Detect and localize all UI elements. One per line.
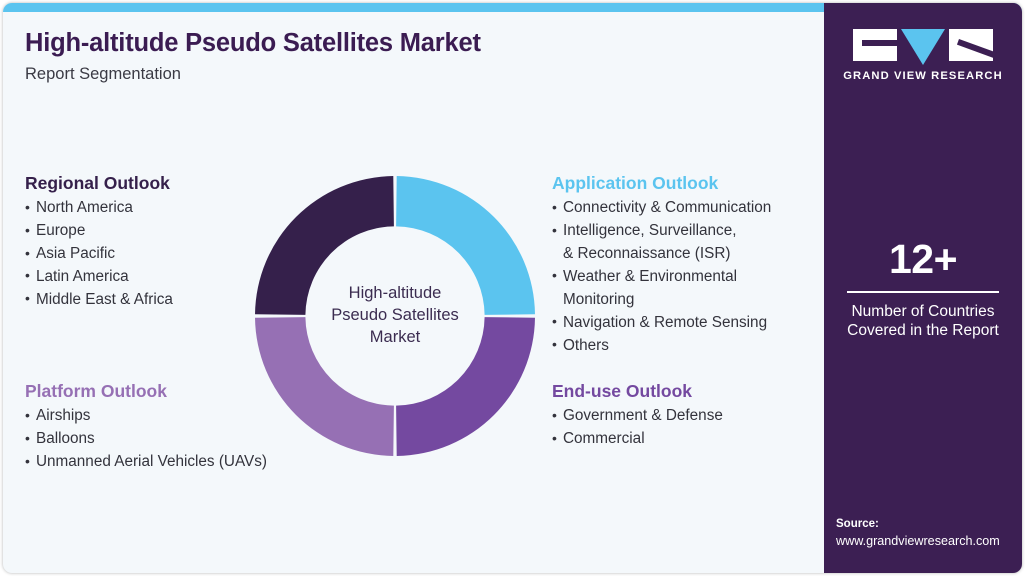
segment-regional-outlook: Regional Outlook North America Europe As…	[25, 173, 275, 312]
header: High-altitude Pseudo Satellites Market R…	[25, 29, 785, 84]
gvr-logo-v-triangle-icon	[901, 29, 945, 65]
brand-logo: GRAND VIEW RESEARCH	[824, 29, 1022, 82]
list-item-continuation: Monitoring	[552, 289, 832, 312]
donut-slice	[396, 317, 535, 456]
segment-enduse-title: End-use Outlook	[552, 381, 832, 401]
list-item: Weather & Environmental	[552, 266, 832, 289]
stat-divider	[847, 291, 999, 293]
segment-application-list: Connectivity & Communication Intelligenc…	[552, 197, 832, 358]
list-item: Navigation & Remote Sensing	[552, 312, 832, 335]
segment-enduse-outlook: End-use Outlook Government & Defense Com…	[552, 381, 832, 451]
segment-application-title: Application Outlook	[552, 173, 832, 193]
stat-countries: 12+ Number of Countries Covered in the R…	[824, 239, 1022, 340]
report-card: High-altitude Pseudo Satellites Market R…	[3, 3, 1022, 573]
list-item: Europe	[25, 220, 275, 243]
segment-enduse-list: Government & Defense Commercial	[552, 405, 832, 451]
donut-slice	[396, 176, 535, 315]
logo-wordmark: GRAND VIEW RESEARCH	[824, 70, 1022, 82]
donut-slice	[255, 176, 394, 315]
donut-chart: High-altitude Pseudo Satellites Market	[255, 176, 535, 456]
page-subtitle: Report Segmentation	[25, 65, 785, 84]
segment-regional-list: North America Europe Asia Pacific Latin …	[25, 197, 275, 312]
logo-marks	[824, 29, 1022, 63]
list-item-continuation: & Reconnaissance (ISR)	[552, 243, 832, 266]
source-url[interactable]: www.grandviewresearch.com	[836, 533, 1022, 550]
list-item: Asia Pacific	[25, 243, 275, 266]
list-item: Commercial	[552, 428, 832, 451]
source-block: Source: www.grandviewresearch.com	[836, 517, 1022, 550]
donut-slice	[255, 317, 394, 456]
source-label: Source:	[836, 517, 1022, 533]
segment-regional-title: Regional Outlook	[25, 173, 275, 193]
list-item: North America	[25, 197, 275, 220]
stat-label-line1: Number of Countries	[824, 302, 1022, 321]
segment-application-outlook: Application Outlook Connectivity & Commu…	[552, 173, 832, 358]
list-item: Connectivity & Communication	[552, 197, 832, 220]
stat-label-line2: Covered in the Report	[824, 321, 1022, 340]
list-item: Government & Defense	[552, 405, 832, 428]
list-item: Middle East & Africa	[25, 289, 275, 312]
stat-value: 12+	[824, 239, 1022, 280]
donut-chart-svg	[255, 176, 535, 456]
list-item: Others	[552, 335, 832, 358]
page-title: High-altitude Pseudo Satellites Market	[25, 29, 785, 58]
gvr-logo-g-icon	[853, 29, 897, 61]
list-item: Intelligence, Surveillance,	[552, 220, 832, 243]
gvr-logo-r-icon	[949, 29, 993, 61]
sidebar-panel: GRAND VIEW RESEARCH 12+ Number of Countr…	[824, 3, 1022, 573]
infographic-root: High-altitude Pseudo Satellites Market R…	[0, 0, 1025, 576]
list-item: Latin America	[25, 266, 275, 289]
